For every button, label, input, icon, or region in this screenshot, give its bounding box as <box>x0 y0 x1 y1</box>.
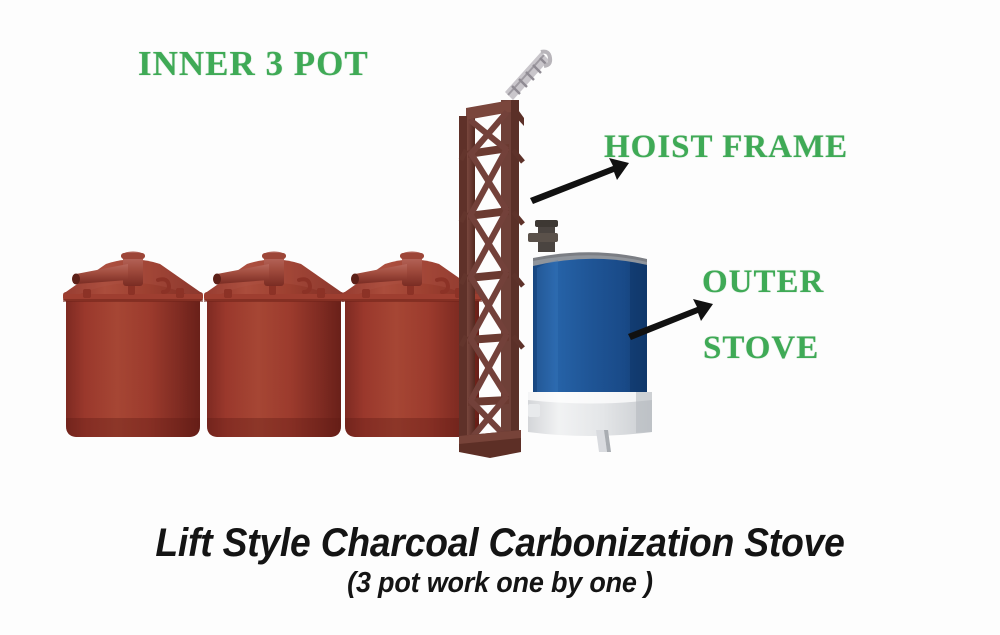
inner-pot-group <box>63 252 482 438</box>
hoist-jib-ladder <box>505 52 550 100</box>
caption-subtitle: (3 pot work one by one ) <box>35 567 965 600</box>
inner-pot-2 <box>204 252 344 438</box>
label-outer-stove-line1: OUTER <box>702 264 824 301</box>
mast-left-face <box>459 116 467 440</box>
inner-pot-1 <box>63 252 203 438</box>
label-inner-3-pot: INNER 3 POT <box>138 44 369 84</box>
caption-title: Lift Style Charcoal Carbonization Stove <box>35 521 965 566</box>
illustration-canvas: INNER 3 POT HOIST FRAME OUTER STOVE Lift… <box>0 0 1000 635</box>
mast-side-face <box>511 100 524 448</box>
stove-chimney <box>528 220 558 252</box>
label-outer-stove-line2: STOVE <box>703 330 819 367</box>
label-hoist-frame: HOIST FRAME <box>604 129 848 166</box>
mast-front-face <box>466 100 511 445</box>
